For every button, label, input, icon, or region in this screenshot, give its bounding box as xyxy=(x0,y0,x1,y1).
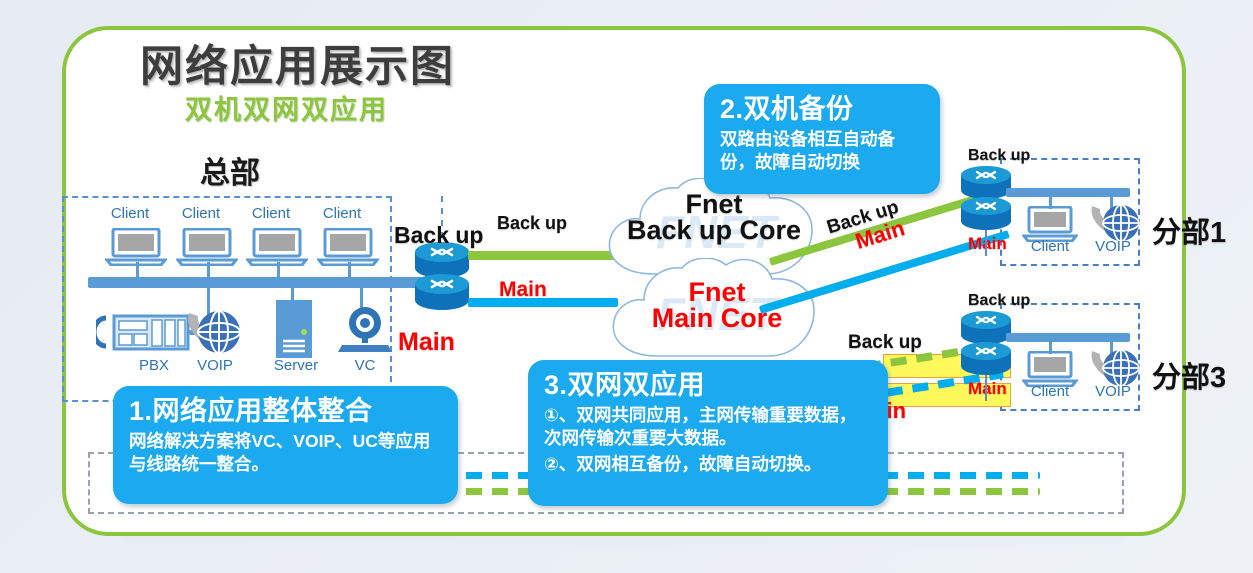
branch3-router-backup-label: Back up xyxy=(968,292,1030,310)
callout-2-body: 双路由设备相互自动备份，故障自动切换 xyxy=(720,128,924,175)
hq-server-icon xyxy=(272,298,316,360)
hq-client-2-label: Client xyxy=(179,206,223,222)
hq-client-3-label: Client xyxy=(249,206,293,222)
hq-router-main[interactable] xyxy=(412,272,472,312)
hq-video-conference-icon xyxy=(336,305,394,357)
backup-core-cloud-line1: Fnet xyxy=(598,190,830,218)
branch3-router-drop xyxy=(985,375,987,401)
branch3-client-label: Client xyxy=(1022,384,1078,400)
callout-1-body: 网络解决方案将VC、VOIP、UC等应用与线路统一整合。 xyxy=(129,430,442,477)
diagram-canvas: 网络应用展示图 双机双网双应用 总部 Client Client xyxy=(0,0,1253,573)
hq-client-1 xyxy=(105,228,167,266)
main-core-cloud-line2: Main Core xyxy=(604,304,830,332)
callout-3-body-line2: ②、双网相互备份，故障自动切换。 xyxy=(544,453,872,476)
callout-3[interactable]: 3.双网双应用 ①、双网共同应用，主网传输重要数据，次网传输次重要大数据。 ②、… xyxy=(528,360,888,506)
hq-client-3 xyxy=(246,228,308,266)
hq-client-4 xyxy=(317,228,379,266)
branch1-router-main[interactable] xyxy=(958,194,1014,232)
hq-router-main-label: Main xyxy=(398,328,455,357)
link-hq-backup-core xyxy=(468,251,618,260)
branch1-title: 分部1 xyxy=(1152,209,1226,251)
hq-client-1-label: Client xyxy=(108,206,152,222)
hq-client-4-label: Client xyxy=(320,206,364,222)
callout-2-title: 2.双机备份 xyxy=(720,93,924,126)
callout-3-title: 3.双网双应用 xyxy=(544,369,872,402)
hq-lan-backbone xyxy=(88,277,428,288)
headquarters-title: 总部 xyxy=(200,148,260,192)
branch3-title: 分部3 xyxy=(1152,354,1226,396)
callout-1-title: 1.网络应用整体整合 xyxy=(129,395,442,428)
page-title: 网络应用展示图 xyxy=(140,32,455,94)
hq-voip-label: VOIP xyxy=(186,358,244,374)
hq-client-2 xyxy=(176,228,238,266)
page-subtitle: 双机双网双应用 xyxy=(185,88,388,127)
branch1-router-main-label: Main xyxy=(968,234,1007,254)
hq-pbx-label: PBX xyxy=(124,358,184,374)
hq-pbx-icon xyxy=(96,310,192,356)
branch1-voip-label: VOIP xyxy=(1087,239,1139,255)
hq-router-backup-label: Back up xyxy=(394,222,483,249)
branch3-laptop-icon xyxy=(1022,351,1078,387)
branch3-voip-label: VOIP xyxy=(1087,384,1139,400)
link-branch3-backup-label: Back up xyxy=(848,332,922,354)
branch3-router-main[interactable] xyxy=(958,339,1014,377)
backup-core-cloud-line2: Back up Core xyxy=(598,216,830,244)
hq-vc-label: VC xyxy=(340,358,390,374)
hq-voip-globe-icon xyxy=(183,305,245,361)
branch3-router-main-label: Main xyxy=(968,379,1007,399)
callout-3-body-line1: ①、双网共同应用，主网传输重要数据，次网传输次重要大数据。 xyxy=(544,404,872,451)
link-hq-backup-label: Back up xyxy=(497,213,567,234)
branch1-client-label: Client xyxy=(1022,239,1078,255)
branch1-router-backup-label: Back up xyxy=(968,147,1030,165)
hq-server-label: Server xyxy=(266,358,326,374)
branch1-router-drop xyxy=(985,230,987,256)
link-hq-main-label: Main xyxy=(499,278,547,302)
callout-1[interactable]: 1.网络应用整体整合 网络解决方案将VC、VOIP、UC等应用与线路统一整合。 xyxy=(113,386,458,504)
callout-2[interactable]: 2.双机备份 双路由设备相互自动备份，故障自动切换 xyxy=(704,84,940,194)
branch1-laptop-icon xyxy=(1022,206,1078,242)
